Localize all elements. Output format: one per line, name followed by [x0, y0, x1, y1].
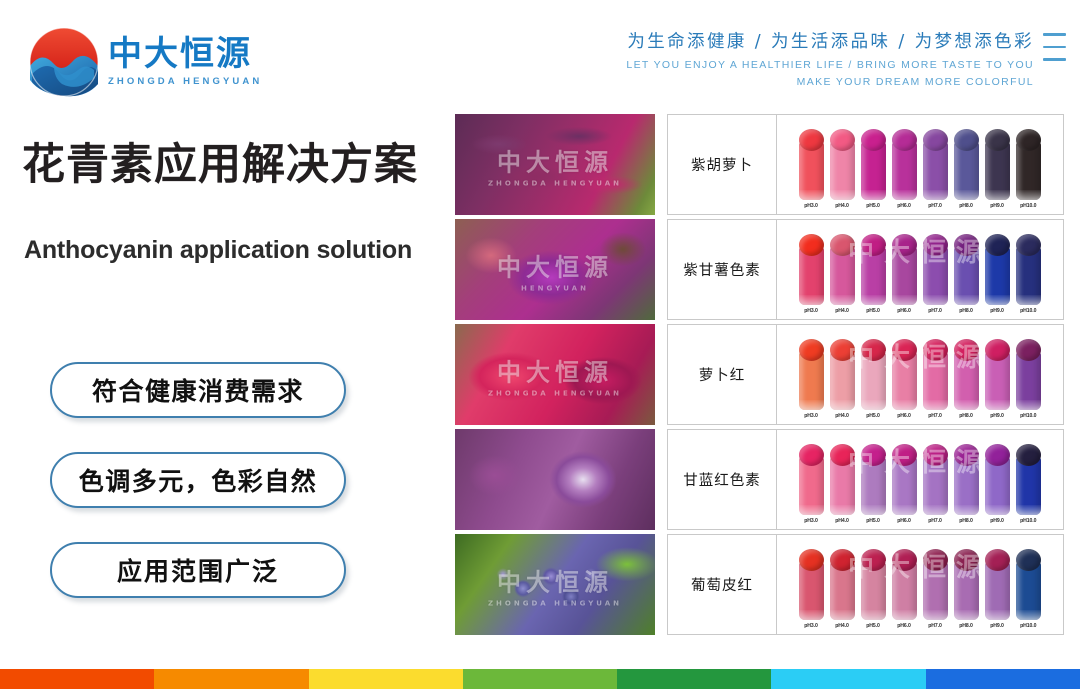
vial-glass-base: [923, 505, 948, 515]
vial-cap-icon: [799, 339, 824, 361]
vial-cap-icon: [861, 339, 886, 361]
ph-vial: pH4.0: [829, 129, 857, 208]
ph-label: pH3.0: [805, 623, 818, 629]
ph-label: pH9.0: [991, 518, 1004, 524]
ph-label: pH7.0: [929, 203, 942, 209]
row-name-cell: 紫胡萝卜: [668, 115, 777, 214]
tagline-en-line1: LET YOU ENJOY A HEALTHIER LIFE / BRING M…: [626, 59, 1034, 71]
colorbar-segment-1: [0, 669, 154, 689]
vial-cap-icon: [923, 549, 948, 571]
ph-vial: pH6.0: [891, 444, 919, 523]
ph-label: pH10.0: [1020, 623, 1036, 629]
ph-vial: pH7.0: [922, 234, 950, 313]
vial-glass-base: [954, 295, 979, 305]
ph-vial: pH6.0: [891, 129, 919, 208]
ph-label: pH7.0: [929, 308, 942, 314]
vial-cap-icon: [954, 339, 979, 361]
ph-vial: pH3.0: [798, 234, 826, 313]
ph-label: pH6.0: [898, 623, 911, 629]
feature-pill-3-label: 应用范围广泛: [117, 552, 279, 588]
ph-vial: pH9.0: [984, 339, 1012, 418]
colorbar-segment-6: [771, 669, 925, 689]
vial-glass-base: [954, 505, 979, 515]
ph-vial: pH7.0: [922, 549, 950, 628]
ph-label: pH8.0: [960, 308, 973, 314]
row-name-cell: 萝卜红: [668, 325, 777, 424]
table-row: 紫甘薯色素 pH3.0pH4.0pH5.0pH6.0pH7.0pH8.0pH9.…: [667, 219, 1064, 320]
logo-text-en: ZHONGDA HENGYUAN: [108, 76, 262, 87]
row-name-cell: 紫甘薯色素: [668, 220, 777, 319]
vial-glass-base: [1016, 505, 1041, 515]
vial-cap-icon: [954, 549, 979, 571]
vial-glass-base: [799, 295, 824, 305]
page-title-en: Anthocyanin application solution: [24, 233, 424, 268]
ph-vial: pH6.0: [891, 549, 919, 628]
vial-cap-icon: [861, 234, 886, 256]
ph-vial: pH5.0: [860, 129, 888, 208]
page-header: 中大恒源 ZHONGDA HENGYUAN 为生命添健康 / 为生活添品味 / …: [0, 0, 1080, 108]
ph-label: pH5.0: [867, 308, 880, 314]
feature-pill-3[interactable]: 应用范围广泛: [50, 542, 346, 598]
vial-glass-base: [954, 190, 979, 200]
vial-glass-base: [954, 610, 979, 620]
vial-glass-base: [892, 400, 917, 410]
ph-vial: pH4.0: [829, 549, 857, 628]
ph-vial: pH3.0: [798, 444, 826, 523]
ph-label: pH4.0: [836, 308, 849, 314]
ph-label: pH9.0: [991, 623, 1004, 629]
vial-cap-icon: [954, 444, 979, 466]
red-radish-photo: 中大恒源 ZHONGDA HENGYUAN: [455, 324, 655, 425]
ph-vial: pH9.0: [984, 549, 1012, 628]
vial-glass-base: [985, 400, 1010, 410]
vial-glass-base: [861, 505, 886, 515]
vial-glass-base: [892, 610, 917, 620]
ph-vial: pH6.0: [891, 234, 919, 313]
vial-glass-base: [985, 505, 1010, 515]
tagline-dash-decoration: [1043, 28, 1066, 61]
vial-cap-icon: [830, 339, 855, 361]
slide-page: 中大恒源 ZHONGDA HENGYUAN 为生命添健康 / 为生活添品味 / …: [0, 0, 1080, 689]
ph-vial: pH10.0: [1015, 129, 1043, 208]
vial-cap-icon: [985, 549, 1010, 571]
grapes-photo: 中大恒源 ZHONGDA HENGYUAN: [455, 534, 655, 635]
vial-cap-icon: [830, 444, 855, 466]
ph-label: pH9.0: [991, 203, 1004, 209]
brand-tagline: 为生命添健康 / 为生活添品味 / 为梦想添色彩 LET YOU ENJOY A…: [626, 28, 1066, 88]
vial-glass-base: [985, 295, 1010, 305]
vial-cap-icon: [985, 129, 1010, 151]
colorbar-segment-7: [926, 669, 1080, 689]
vial-cap-icon: [830, 234, 855, 256]
vial-cap-icon: [985, 444, 1010, 466]
ph-label: pH4.0: [836, 203, 849, 209]
tagline-cn: 为生命添健康 / 为生活添品味 / 为梦想添色彩: [626, 28, 1034, 53]
vial-glass-base: [830, 505, 855, 515]
table-row: 葡萄皮红 pH3.0pH4.0pH5.0pH6.0pH7.0pH8.0pH9.0…: [667, 534, 1064, 635]
vial-cap-icon: [923, 234, 948, 256]
logo-text-cn: 中大恒源: [108, 37, 262, 73]
ph-vial: pH10.0: [1015, 549, 1043, 628]
vial-glass-base: [861, 610, 886, 620]
vial-glass-base: [892, 190, 917, 200]
pigment-name: 甘蓝红色素: [683, 469, 761, 490]
ph-vial: pH5.0: [860, 549, 888, 628]
photo-watermark: 中大恒源 ZHONGDA HENGYUAN: [455, 142, 655, 187]
ph-vial: pH4.0: [829, 234, 857, 313]
vial-strip: pH3.0pH4.0pH5.0pH6.0pH7.0pH8.0pH9.0pH10.…: [798, 129, 1043, 208]
source-photo-column: 中大恒源 ZHONGDA HENGYUAN 中大恒源 HENGYUAN 中大恒源…: [455, 114, 655, 635]
pigment-name: 紫甘薯色素: [683, 259, 761, 280]
ph-vial: pH7.0: [922, 129, 950, 208]
vial-cap-icon: [985, 234, 1010, 256]
red-cabbage-photo: [455, 429, 655, 530]
vial-cap-icon: [830, 549, 855, 571]
ph-label: pH4.0: [836, 623, 849, 629]
ph-label: pH5.0: [867, 623, 880, 629]
vial-glass-base: [1016, 295, 1041, 305]
table-row: 甘蓝红色素 pH3.0pH4.0pH5.0pH6.0pH7.0pH8.0pH9.…: [667, 429, 1064, 530]
purple-carrot-photo: 中大恒源 ZHONGDA HENGYUAN: [455, 114, 655, 215]
feature-pill-list: 符合健康消费需求 色调多元，色彩自然 应用范围广泛: [50, 362, 346, 598]
table-row: 萝卜红 pH3.0pH4.0pH5.0pH6.0pH7.0pH8.0pH9.0p…: [667, 324, 1064, 425]
vial-cap-icon: [799, 129, 824, 151]
vial-glass-base: [799, 505, 824, 515]
ph-label: pH8.0: [960, 623, 973, 629]
ph-vial: pH5.0: [860, 444, 888, 523]
table-row: 紫胡萝卜 pH3.0pH4.0pH5.0pH6.0pH7.0pH8.0pH9.0…: [667, 114, 1064, 215]
ph-label: pH5.0: [867, 413, 880, 419]
vial-cap-icon: [1016, 339, 1041, 361]
ph-label: pH10.0: [1020, 413, 1036, 419]
ph-vial: pH6.0: [891, 339, 919, 418]
ph-vial: pH10.0: [1015, 234, 1043, 313]
ph-label: pH6.0: [898, 413, 911, 419]
ph-label: pH3.0: [805, 518, 818, 524]
ph-vial: pH8.0: [953, 129, 981, 208]
ph-label: pH5.0: [867, 518, 880, 524]
vial-glass-base: [954, 400, 979, 410]
ph-label: pH8.0: [960, 203, 973, 209]
colorbar-segment-2: [154, 669, 308, 689]
colorbar-segment-4: [463, 669, 617, 689]
vial-cap-icon: [985, 339, 1010, 361]
ph-label: pH6.0: [898, 518, 911, 524]
vial-glass-base: [892, 295, 917, 305]
ph-label: pH9.0: [991, 308, 1004, 314]
ph-label: pH4.0: [836, 413, 849, 419]
vial-glass-base: [985, 610, 1010, 620]
vial-cap-icon: [892, 129, 917, 151]
vial-cap-icon: [892, 339, 917, 361]
feature-pill-1[interactable]: 符合健康消费需求: [50, 362, 346, 418]
ph-label: pH3.0: [805, 413, 818, 419]
ph-label: pH7.0: [929, 623, 942, 629]
vial-cap-icon: [923, 129, 948, 151]
vial-glass-base: [892, 505, 917, 515]
vial-glass-base: [799, 190, 824, 200]
ph-label: pH3.0: [805, 308, 818, 314]
vial-cap-icon: [799, 234, 824, 256]
purple-sweet-potato-photo: 中大恒源 HENGYUAN: [455, 219, 655, 320]
ph-vial: pH3.0: [798, 339, 826, 418]
photo-watermark: 中大恒源 ZHONGDA HENGYUAN: [455, 352, 655, 397]
vial-cap-icon: [892, 234, 917, 256]
vial-cap-icon: [954, 234, 979, 256]
vial-cap-icon: [861, 444, 886, 466]
vial-cap-icon: [923, 339, 948, 361]
vial-glass-base: [923, 400, 948, 410]
vial-cap-icon: [1016, 444, 1041, 466]
ph-vial: pH9.0: [984, 129, 1012, 208]
vial-cap-icon: [1016, 549, 1041, 571]
photo-watermark: 中大恒源 ZHONGDA HENGYUAN: [455, 562, 655, 607]
ph-label: pH7.0: [929, 518, 942, 524]
ph-vial: pH7.0: [922, 444, 950, 523]
vial-glass-base: [830, 400, 855, 410]
vial-series-cell: pH3.0pH4.0pH5.0pH6.0pH7.0pH8.0pH9.0pH10.…: [777, 325, 1063, 424]
ph-label: pH7.0: [929, 413, 942, 419]
vial-series-cell: pH3.0pH4.0pH5.0pH6.0pH7.0pH8.0pH9.0pH10.…: [777, 220, 1063, 319]
vial-glass-base: [1016, 400, 1041, 410]
ph-label: pH10.0: [1020, 308, 1036, 314]
colorbar-segment-5: [617, 669, 771, 689]
vial-cap-icon: [892, 549, 917, 571]
vial-glass-base: [830, 295, 855, 305]
vial-glass-base: [1016, 610, 1041, 620]
ph-vial: pH4.0: [829, 444, 857, 523]
photo-watermark: [455, 479, 655, 481]
vial-glass-base: [799, 610, 824, 620]
ph-vial: pH9.0: [984, 444, 1012, 523]
dash-line-3: [1043, 58, 1066, 61]
row-name-cell: 葡萄皮红: [668, 535, 777, 634]
ph-label: pH9.0: [991, 413, 1004, 419]
footer-colorbar: [0, 669, 1080, 689]
vial-strip: pH3.0pH4.0pH5.0pH6.0pH7.0pH8.0pH9.0pH10.…: [798, 549, 1043, 628]
feature-pill-1-label: 符合健康消费需求: [92, 372, 304, 408]
feature-pill-2-label: 色调多元，色彩自然: [79, 462, 318, 498]
vial-glass-base: [861, 400, 886, 410]
feature-pill-2[interactable]: 色调多元，色彩自然: [50, 452, 346, 508]
vial-cap-icon: [954, 129, 979, 151]
vial-glass-base: [861, 190, 886, 200]
ph-label: pH3.0: [805, 203, 818, 209]
ph-vial: pH5.0: [860, 234, 888, 313]
ph-label: pH8.0: [960, 518, 973, 524]
vial-cap-icon: [923, 444, 948, 466]
dash-line-1: [1043, 33, 1066, 36]
ph-label: pH10.0: [1020, 203, 1036, 209]
dash-line-2: [1043, 46, 1066, 49]
vial-series-cell: pH3.0pH4.0pH5.0pH6.0pH7.0pH8.0pH9.0pH10.…: [777, 535, 1063, 634]
vial-series-cell: pH3.0pH4.0pH5.0pH6.0pH7.0pH8.0pH9.0pH10.…: [777, 430, 1063, 529]
vial-glass-base: [1016, 190, 1041, 200]
vial-cap-icon: [799, 444, 824, 466]
ph-label: pH6.0: [898, 203, 911, 209]
vial-glass-base: [985, 190, 1010, 200]
vial-glass-base: [923, 295, 948, 305]
ph-vial: pH7.0: [922, 339, 950, 418]
vial-glass-base: [923, 190, 948, 200]
vial-cap-icon: [861, 129, 886, 151]
vial-strip: pH3.0pH4.0pH5.0pH6.0pH7.0pH8.0pH9.0pH10.…: [798, 444, 1043, 523]
ph-label: pH6.0: [898, 308, 911, 314]
ph-vial: pH5.0: [860, 339, 888, 418]
vial-glass-base: [923, 610, 948, 620]
pigment-name: 萝卜红: [699, 364, 746, 385]
ph-vial: pH10.0: [1015, 444, 1043, 523]
pigment-name: 葡萄皮红: [691, 574, 753, 595]
sun-wave-emblem-icon: [28, 26, 100, 98]
ph-label: pH4.0: [836, 518, 849, 524]
vial-cap-icon: [892, 444, 917, 466]
ph-vial: pH4.0: [829, 339, 857, 418]
vial-cap-icon: [1016, 129, 1041, 151]
row-name-cell: 甘蓝红色素: [668, 430, 777, 529]
photo-watermark: 中大恒源 HENGYUAN: [455, 247, 655, 292]
ph-vial: pH10.0: [1015, 339, 1043, 418]
vial-cap-icon: [799, 549, 824, 571]
vial-glass-base: [830, 610, 855, 620]
ph-vial: pH8.0: [953, 549, 981, 628]
ph-label: pH5.0: [867, 203, 880, 209]
ph-vial: pH3.0: [798, 129, 826, 208]
ph-vial: pH8.0: [953, 339, 981, 418]
brand-logo: 中大恒源 ZHONGDA HENGYUAN: [28, 26, 262, 98]
vial-series-cell: pH3.0pH4.0pH5.0pH6.0pH7.0pH8.0pH9.0pH10.…: [777, 115, 1063, 214]
ph-label: pH8.0: [960, 413, 973, 419]
vial-glass-base: [861, 295, 886, 305]
vial-glass-base: [830, 190, 855, 200]
vial-strip: pH3.0pH4.0pH5.0pH6.0pH7.0pH8.0pH9.0pH10.…: [798, 339, 1043, 418]
vial-cap-icon: [830, 129, 855, 151]
page-title-cn: 花青素应用解决方案: [22, 141, 418, 190]
pigment-name: 紫胡萝卜: [691, 154, 753, 175]
vial-cap-icon: [861, 549, 886, 571]
ph-label: pH10.0: [1020, 518, 1036, 524]
ph-vial: pH8.0: [953, 234, 981, 313]
ph-color-table: 紫胡萝卜 pH3.0pH4.0pH5.0pH6.0pH7.0pH8.0pH9.0…: [667, 114, 1064, 635]
vial-glass-base: [799, 400, 824, 410]
tagline-en-line2: MAKE YOUR DREAM MORE COLORFUL: [626, 76, 1034, 88]
ph-vial: pH9.0: [984, 234, 1012, 313]
colorbar-segment-3: [309, 669, 463, 689]
vial-cap-icon: [1016, 234, 1041, 256]
ph-vial: pH8.0: [953, 444, 981, 523]
ph-vial: pH3.0: [798, 549, 826, 628]
vial-strip: pH3.0pH4.0pH5.0pH6.0pH7.0pH8.0pH9.0pH10.…: [798, 234, 1043, 313]
